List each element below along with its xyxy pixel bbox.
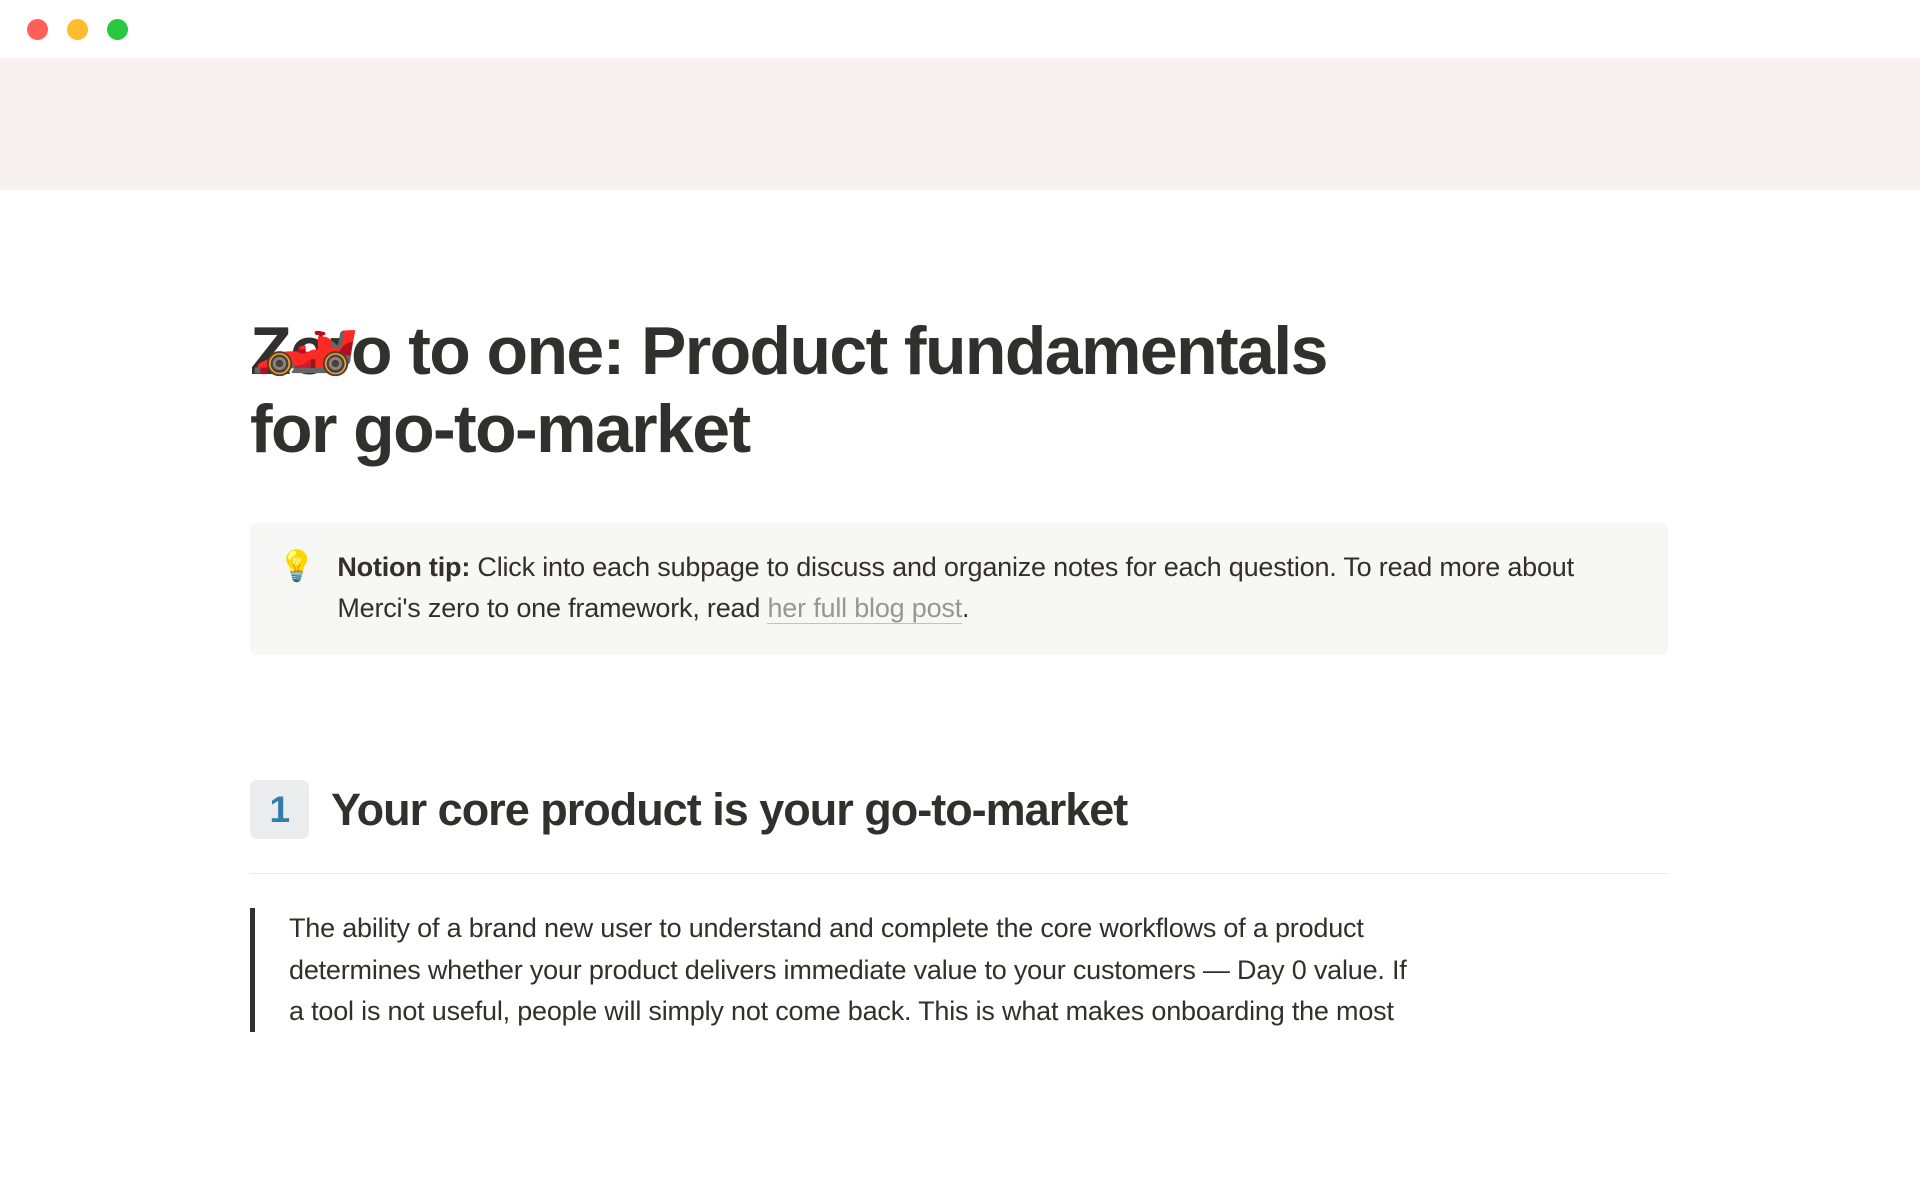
blog-post-link[interactable]: her full blog post	[767, 593, 962, 624]
callout-lead-label: Notion tip:	[337, 552, 470, 582]
callout-body-tail: .	[962, 593, 969, 623]
racing-car-emoji[interactable]: 🏎️	[250, 284, 360, 372]
section-heading[interactable]: 1 Your core product is your go-to-market	[250, 780, 1670, 839]
quote-block[interactable]: The ability of a brand new user to under…	[250, 908, 1425, 1032]
callout-block[interactable]: 💡 Notion tip: Click into each subpage to…	[250, 523, 1668, 655]
section-number-badge: 1	[250, 780, 309, 839]
document-content-column: 🏎️ Zero to one: Product fundamentals for…	[250, 312, 1670, 1032]
callout-text: Notion tip: Click into each subpage to d…	[337, 547, 1640, 629]
traffic-light-group	[27, 19, 128, 40]
light-bulb-emoji[interactable]: 💡	[278, 547, 315, 588]
window-title-bar	[0, 0, 1920, 58]
document-body: 🏎️ Zero to one: Product fundamentals for…	[0, 190, 1920, 1200]
maximize-window-button[interactable]	[107, 19, 128, 40]
page-cover-image[interactable]	[0, 58, 1920, 190]
close-window-button[interactable]	[27, 19, 48, 40]
horizontal-divider	[250, 873, 1668, 874]
page-title[interactable]: Zero to one: Product fundamentals for go…	[250, 312, 1420, 468]
section-title[interactable]: Your core product is your go-to-market	[331, 783, 1127, 837]
minimize-window-button[interactable]	[67, 19, 88, 40]
